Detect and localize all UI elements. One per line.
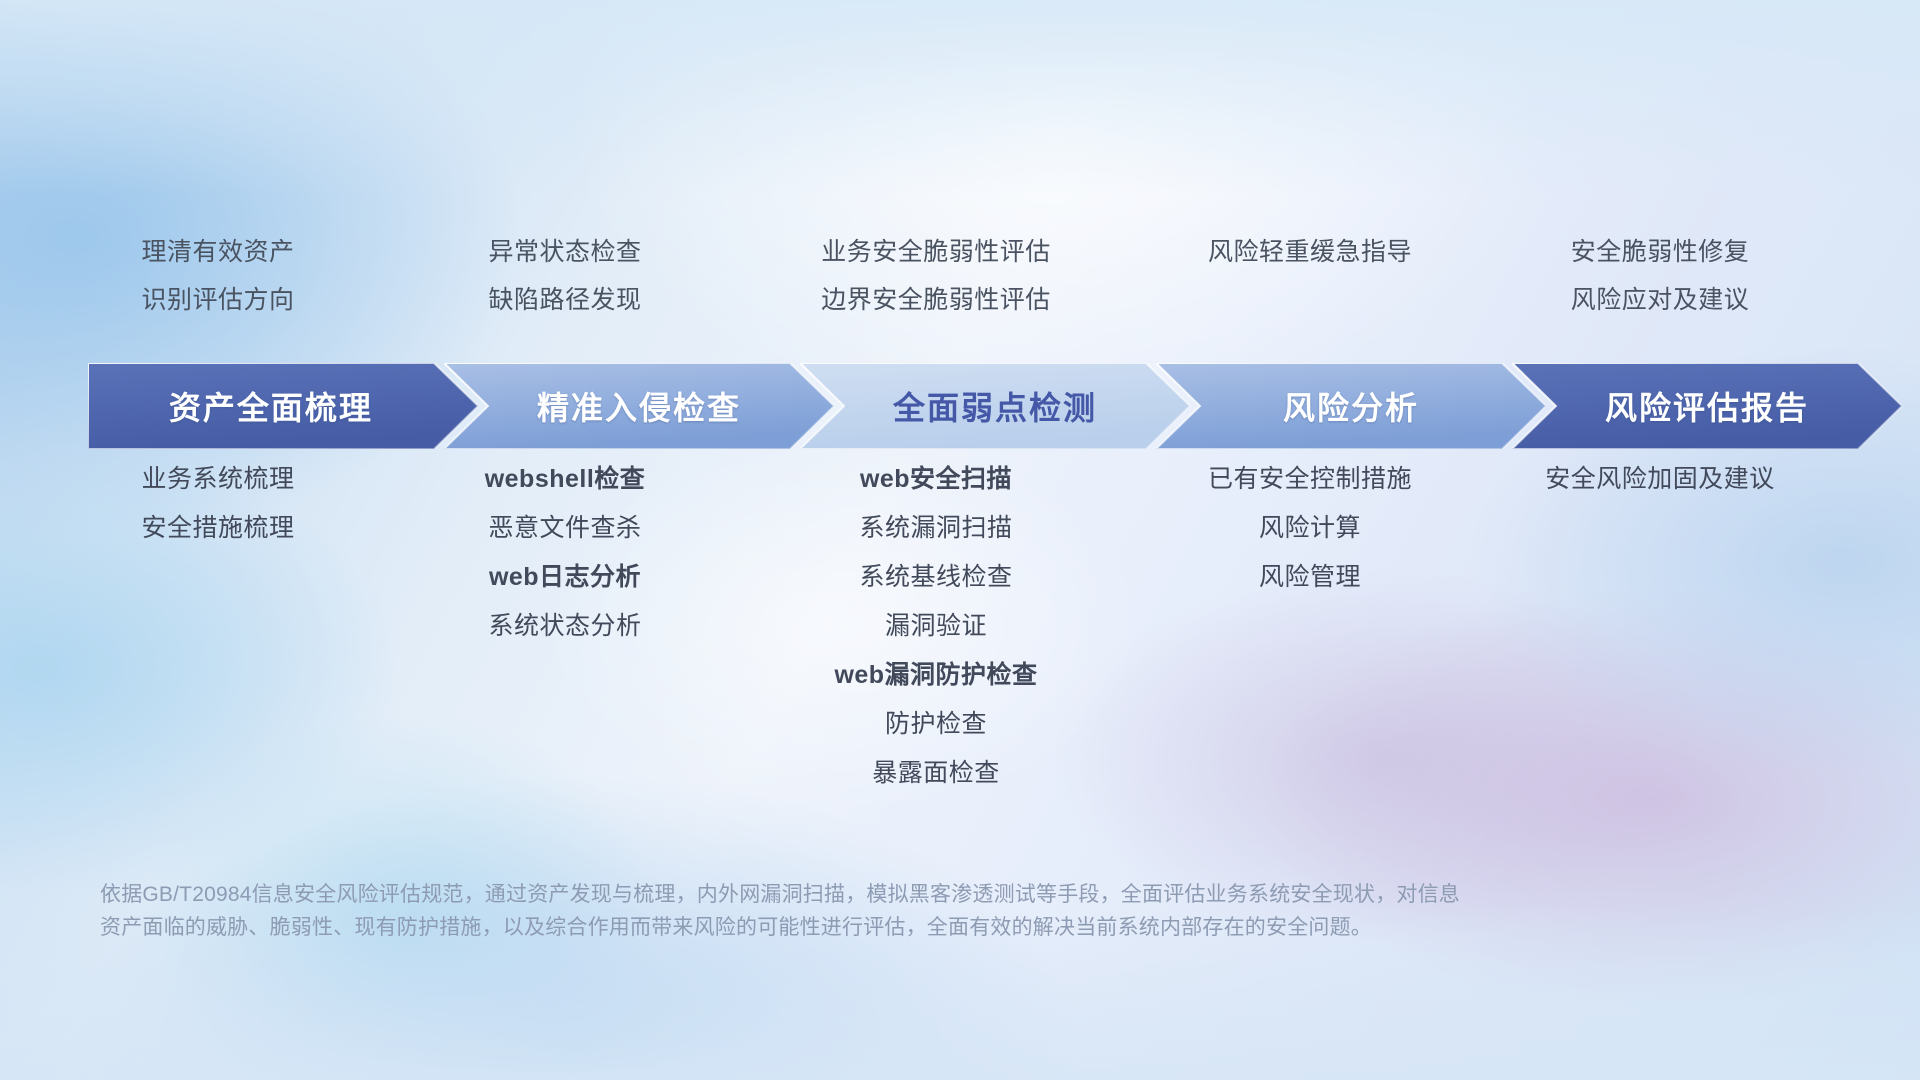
- bottom-notes-risk-analysis: 已有安全控制措施风险计算风险管理: [1118, 455, 1502, 798]
- process-arrow-banner: 资产全面梳理精准入侵检查全面弱点检测风险分析风险评估报告: [88, 363, 1858, 449]
- bottom-note-item: webshell检查: [373, 455, 757, 504]
- process-step-title: 风险评估报告: [1605, 383, 1809, 429]
- bottom-note-item: 暴露面检查: [744, 749, 1128, 798]
- process-step-intrusion-check[interactable]: 精准入侵检查: [444, 363, 834, 449]
- process-step-title: 精准入侵检查: [537, 383, 741, 429]
- process-step-title: 资产全面梳理: [169, 383, 373, 429]
- top-note-row: 理清有效资产识别评估方向异常状态检查缺陷路径发现业务安全脆弱性评估边界安全脆弱性…: [0, 228, 1920, 324]
- bottom-notes-weakness-detection: web安全扫描系统漏洞扫描系统基线检查漏洞验证web漏洞防护检查防护检查暴露面检…: [744, 455, 1128, 798]
- bottom-note-item: web漏洞防护检查: [744, 651, 1128, 700]
- bottom-note-item: 系统基线检查: [744, 553, 1128, 602]
- bottom-note-item: 安全措施梳理: [26, 504, 410, 553]
- diagram-content: 理清有效资产识别评估方向异常状态检查缺陷路径发现业务安全脆弱性评估边界安全脆弱性…: [0, 0, 1920, 1080]
- footer-line-1: 依据GB/T20984信息安全风险评估规范，通过资产发现与梳理，内外网漏洞扫描，…: [100, 878, 1720, 911]
- bottom-note-item: 系统状态分析: [373, 602, 757, 651]
- bottom-notes-intrusion-check: webshell检查恶意文件查杀web日志分析系统状态分析: [373, 455, 757, 798]
- bottom-note-item: 风险管理: [1118, 553, 1502, 602]
- top-notes-risk-analysis: 风险轻重缓急指导: [1118, 228, 1502, 324]
- top-note-item: 缺陷路径发现: [373, 276, 757, 324]
- bottom-note-item: 漏洞验证: [744, 602, 1128, 651]
- top-note-item: 风险轻重缓急指导: [1118, 228, 1502, 276]
- bottom-note-item: 风险计算: [1118, 504, 1502, 553]
- top-notes-asset-inventory: 理清有效资产识别评估方向: [26, 228, 410, 324]
- bottom-note-item: 系统漏洞扫描: [744, 504, 1128, 553]
- top-note-item: 风险应对及建议: [1468, 276, 1852, 324]
- bottom-note-row: 业务系统梳理安全措施梳理webshell检查恶意文件查杀web日志分析系统状态分…: [0, 455, 1920, 798]
- process-step-asset-inventory[interactable]: 资产全面梳理: [88, 363, 478, 449]
- bottom-note-item: 安全风险加固及建议: [1468, 455, 1852, 504]
- top-note-item: 安全脆弱性修复: [1468, 228, 1852, 276]
- bottom-note-item: web日志分析: [373, 553, 757, 602]
- bottom-notes-risk-report: 安全风险加固及建议: [1468, 455, 1852, 798]
- slide-canvas: 理清有效资产识别评估方向异常状态检查缺陷路径发现业务安全脆弱性评估边界安全脆弱性…: [0, 0, 1920, 1080]
- top-note-item: 识别评估方向: [26, 276, 410, 324]
- process-step-risk-report[interactable]: 风险评估报告: [1512, 363, 1902, 449]
- top-note-item: 边界安全脆弱性评估: [744, 276, 1128, 324]
- bottom-note-item: web安全扫描: [744, 455, 1128, 504]
- bottom-notes-asset-inventory: 业务系统梳理安全措施梳理: [26, 455, 410, 798]
- process-step-risk-analysis[interactable]: 风险分析: [1156, 363, 1546, 449]
- footer-description: 依据GB/T20984信息安全风险评估规范，通过资产发现与梳理，内外网漏洞扫描，…: [100, 878, 1720, 944]
- process-step-title: 风险分析: [1283, 383, 1419, 429]
- top-notes-risk-report: 安全脆弱性修复风险应对及建议: [1468, 228, 1852, 324]
- bottom-note-item: 恶意文件查杀: [373, 504, 757, 553]
- top-notes-intrusion-check: 异常状态检查缺陷路径发现: [373, 228, 757, 324]
- top-note-item: 业务安全脆弱性评估: [744, 228, 1128, 276]
- footer-line-2: 资产面临的威胁、脆弱性、现有防护措施，以及综合作用而带来风险的可能性进行评估，全…: [100, 911, 1720, 944]
- bottom-note-item: 业务系统梳理: [26, 455, 410, 504]
- top-notes-weakness-detection: 业务安全脆弱性评估边界安全脆弱性评估: [744, 228, 1128, 324]
- top-note-item: 理清有效资产: [26, 228, 410, 276]
- process-step-title: 全面弱点检测: [893, 383, 1097, 429]
- bottom-note-item: 已有安全控制措施: [1118, 455, 1502, 504]
- top-note-item: 异常状态检查: [373, 228, 757, 276]
- process-step-weakness-detection[interactable]: 全面弱点检测: [800, 363, 1190, 449]
- bottom-note-item: 防护检查: [744, 700, 1128, 749]
